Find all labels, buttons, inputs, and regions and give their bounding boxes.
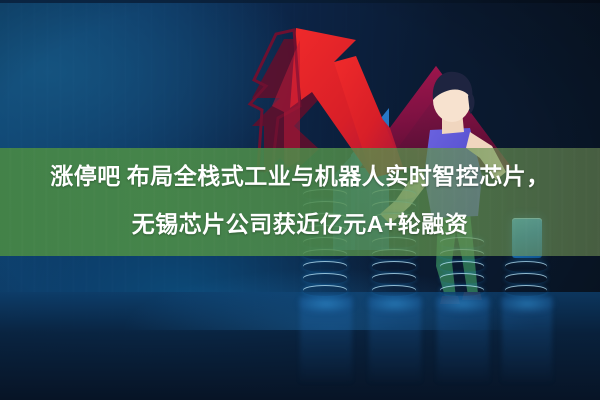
coin-shadow-2 <box>365 294 425 314</box>
news-cover-image: 涨停吧布局全栈式工业与机器人实时智控芯片， 无锡芯片公司获近亿元A+轮融资 <box>0 0 600 400</box>
coin <box>372 285 416 296</box>
coin-shadow-3 <box>433 294 493 314</box>
coin <box>440 261 484 272</box>
coin-shadow-1 <box>296 294 356 314</box>
headline-line-1-text: 布局全栈式工业与机器人实时智控芯片， <box>127 163 550 189</box>
headline-block: 涨停吧布局全栈式工业与机器人实时智控芯片， 无锡芯片公司获近亿元A+轮融资 <box>0 152 600 248</box>
coin <box>505 261 547 272</box>
coin <box>505 273 547 284</box>
coin <box>440 285 484 296</box>
coin <box>303 273 347 284</box>
coin <box>372 261 416 272</box>
coin-stack-4 <box>505 260 547 296</box>
coin <box>303 285 347 296</box>
coin <box>505 285 547 296</box>
headline-line-2: 无锡芯片公司获近亿元A+轮融资 <box>22 200 578 248</box>
headline-line-1: 涨停吧布局全栈式工业与机器人实时智控芯片， <box>22 152 578 200</box>
coin <box>372 273 416 284</box>
headline-source-label: 涨停吧 <box>50 163 121 189</box>
coin <box>303 261 347 272</box>
coin <box>440 273 484 284</box>
coin-shadow-4 <box>498 294 556 314</box>
